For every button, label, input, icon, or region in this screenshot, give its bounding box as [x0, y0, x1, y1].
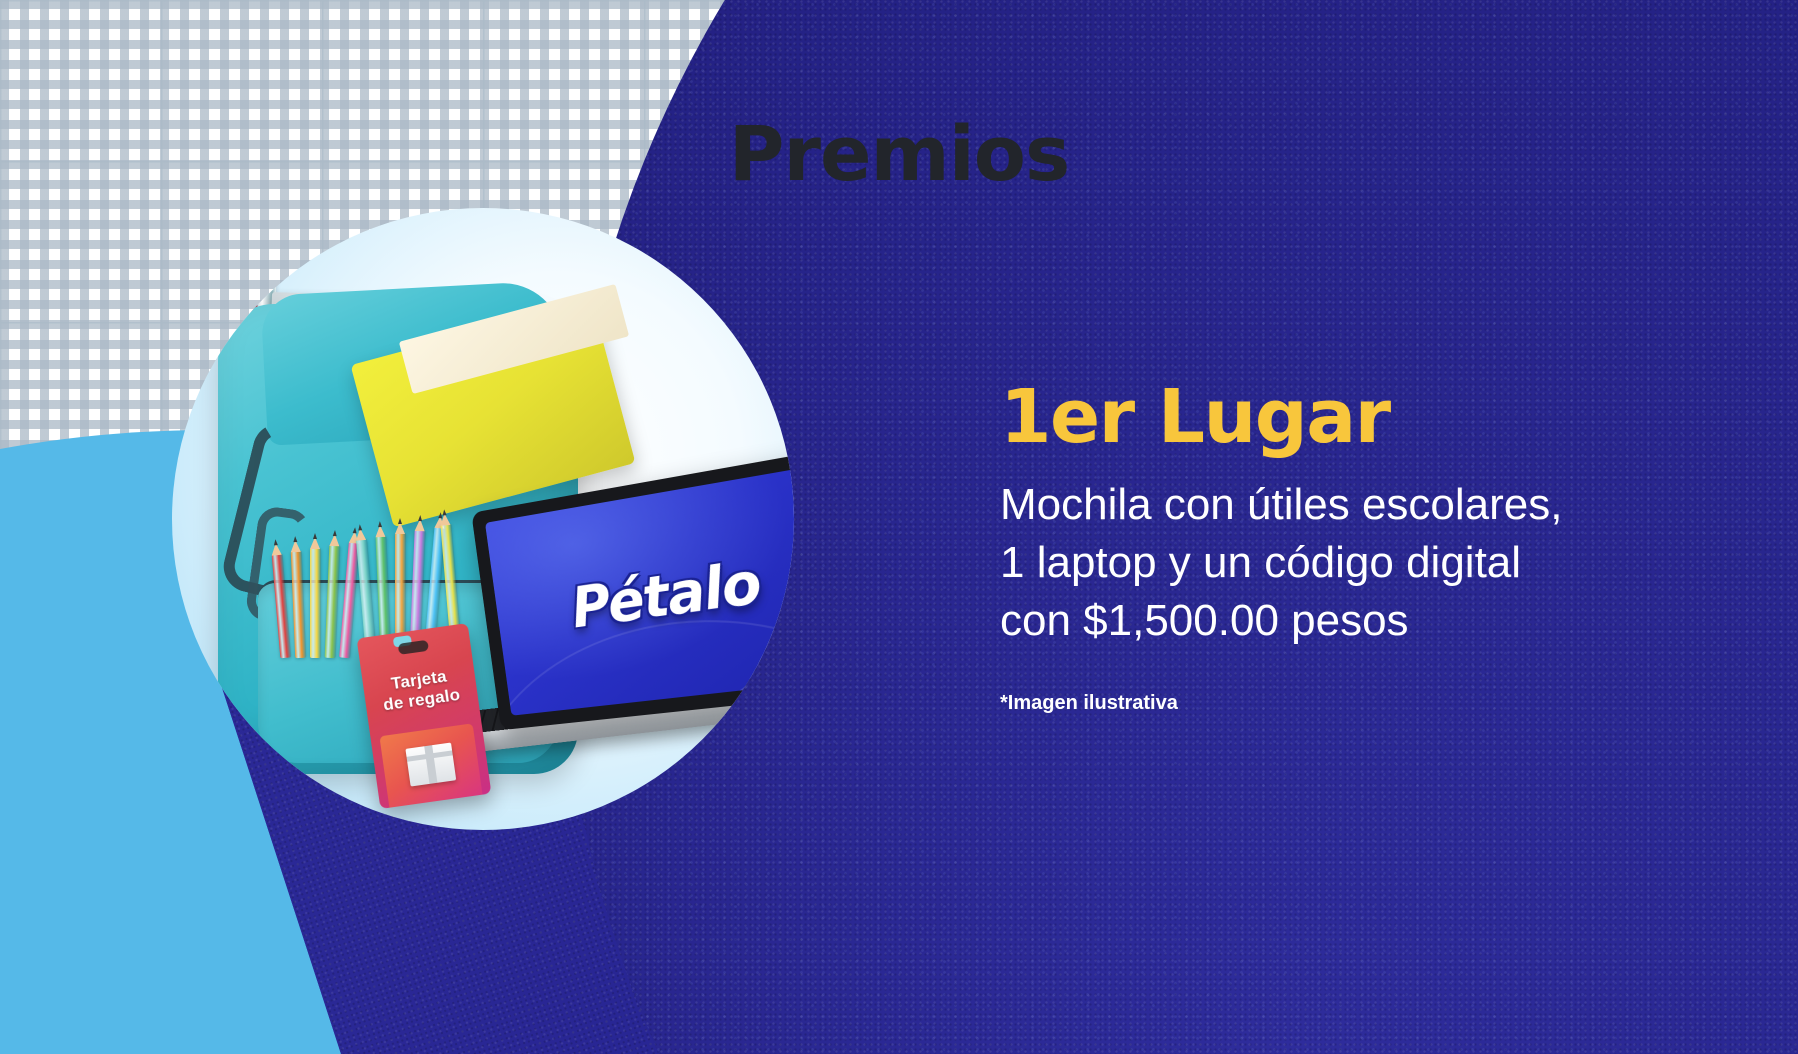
prize-description: Mochila con útiles escolares,1 laptop y …: [1000, 476, 1680, 650]
prize-rank-label: 1er Lugar: [1000, 380, 1720, 454]
prize-block: 1er Lugar Mochila con útiles escolares,1…: [1000, 380, 1720, 715]
gift-card-art-panel: [379, 723, 482, 807]
page-title: Premios: [0, 109, 1798, 198]
laptop: Pétalo: [458, 456, 794, 789]
product-photo-clip: Pétalo Tarjeta de regalo: [172, 208, 794, 830]
prize-disclaimer: *Imagen ilustrativa: [1000, 692, 1720, 715]
product-photo-circle: Pétalo Tarjeta de regalo: [172, 208, 794, 830]
gift-card: Tarjeta de regalo: [357, 623, 492, 809]
colored-pencil: [291, 551, 306, 658]
gift-box-icon: [405, 743, 456, 787]
colored-pencil: [310, 548, 321, 658]
prize-description-line-2: 1 laptop y un código digital: [1000, 534, 1680, 592]
prize-description-line-3: con $1,500.00 pesos: [1000, 592, 1680, 650]
laptop-screen: Pétalo: [485, 463, 794, 716]
gift-card-text: Tarjeta de regalo: [362, 663, 478, 718]
prizes-banner: Premios: [0, 0, 1798, 1054]
prize-description-line-1: Mochila con útiles escolares,: [1000, 476, 1680, 534]
colored-pencil: [325, 545, 341, 658]
